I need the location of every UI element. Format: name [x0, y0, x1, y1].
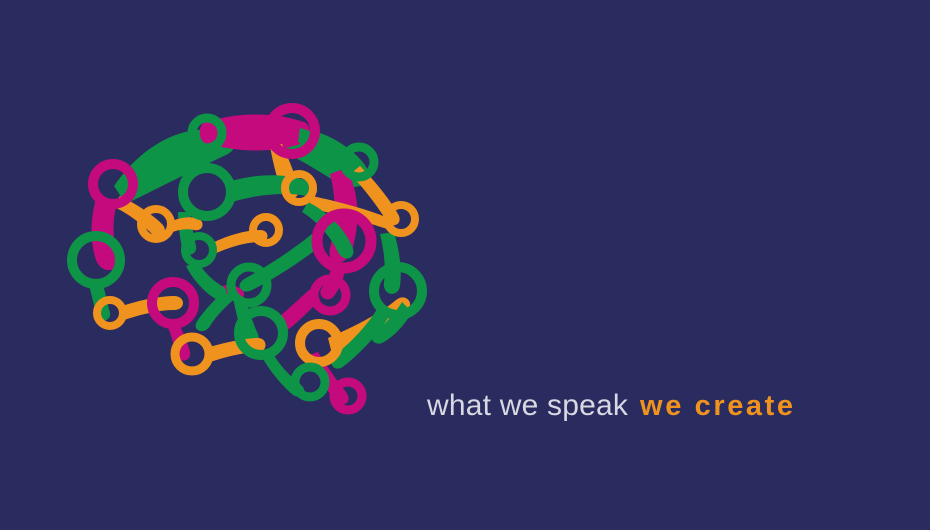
tagline-light-text: what we speak [427, 389, 628, 423]
tagline-accent-text: we create [640, 389, 796, 423]
brain-logo-svg [60, 100, 440, 425]
brain-network-logo [60, 100, 440, 425]
node-n21 [295, 367, 325, 397]
node-n9 [253, 217, 279, 243]
tagline: what we speak we create [427, 389, 796, 423]
logo-nodes [72, 108, 422, 410]
slide-canvas: what we speak we create [0, 0, 930, 530]
node-n5 [183, 168, 231, 216]
